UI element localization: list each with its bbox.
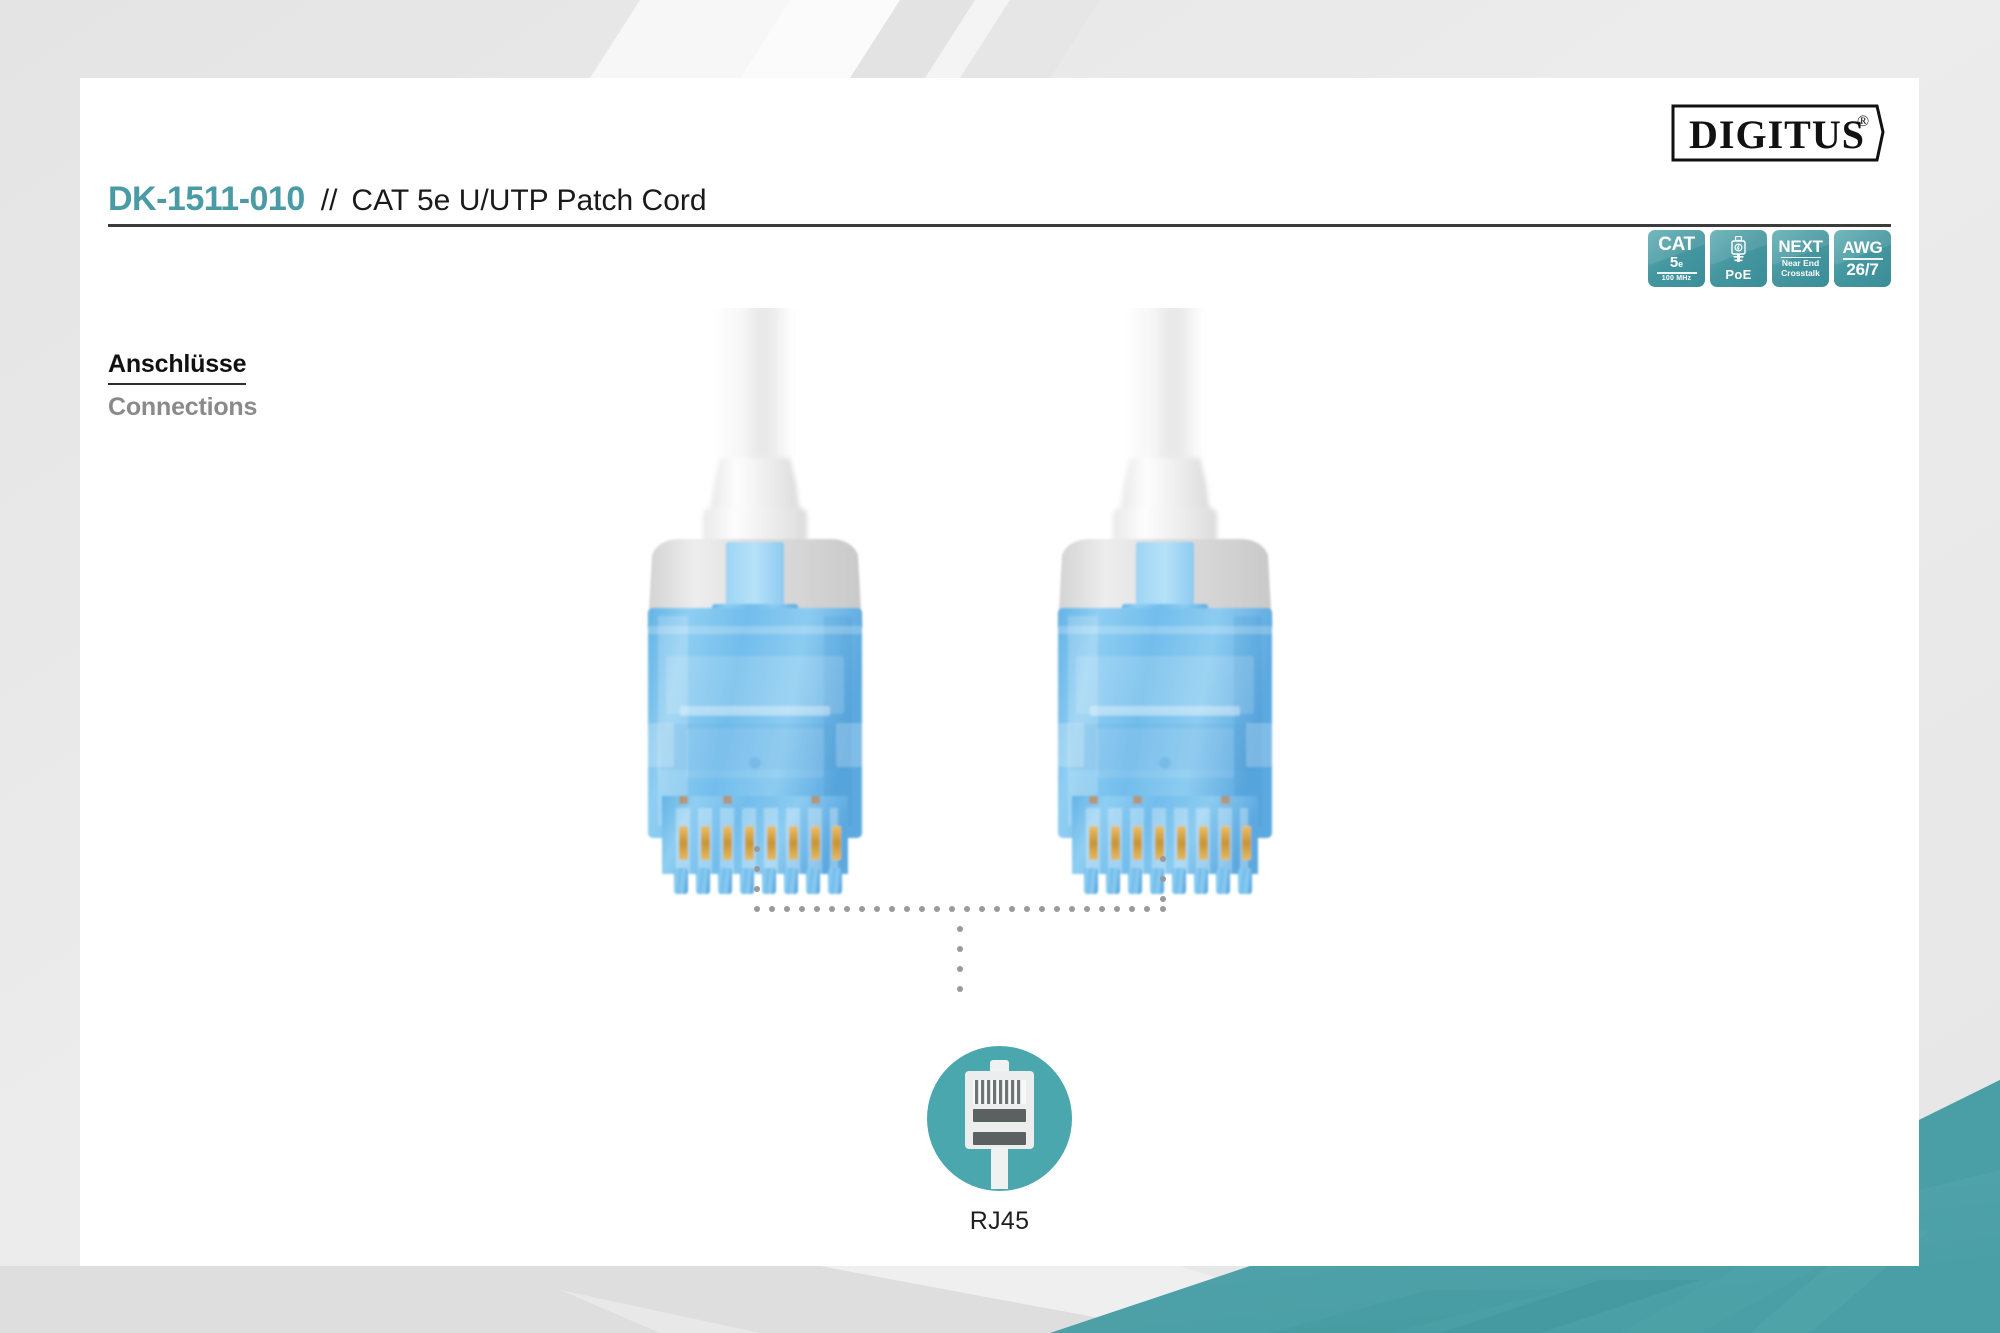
top-stripe-decoration <box>590 0 1100 78</box>
datasheet-card: DIGITUS ® DK-1511-010 // CAT 5e U/UTP Pa… <box>80 78 1919 1266</box>
rj45-connector-icon <box>927 1046 1072 1191</box>
rj45-icon-circle <box>927 1046 1072 1191</box>
rj45-label: RJ45 <box>925 1207 1075 1236</box>
rj45-callout: RJ45 <box>925 1046 1075 1236</box>
